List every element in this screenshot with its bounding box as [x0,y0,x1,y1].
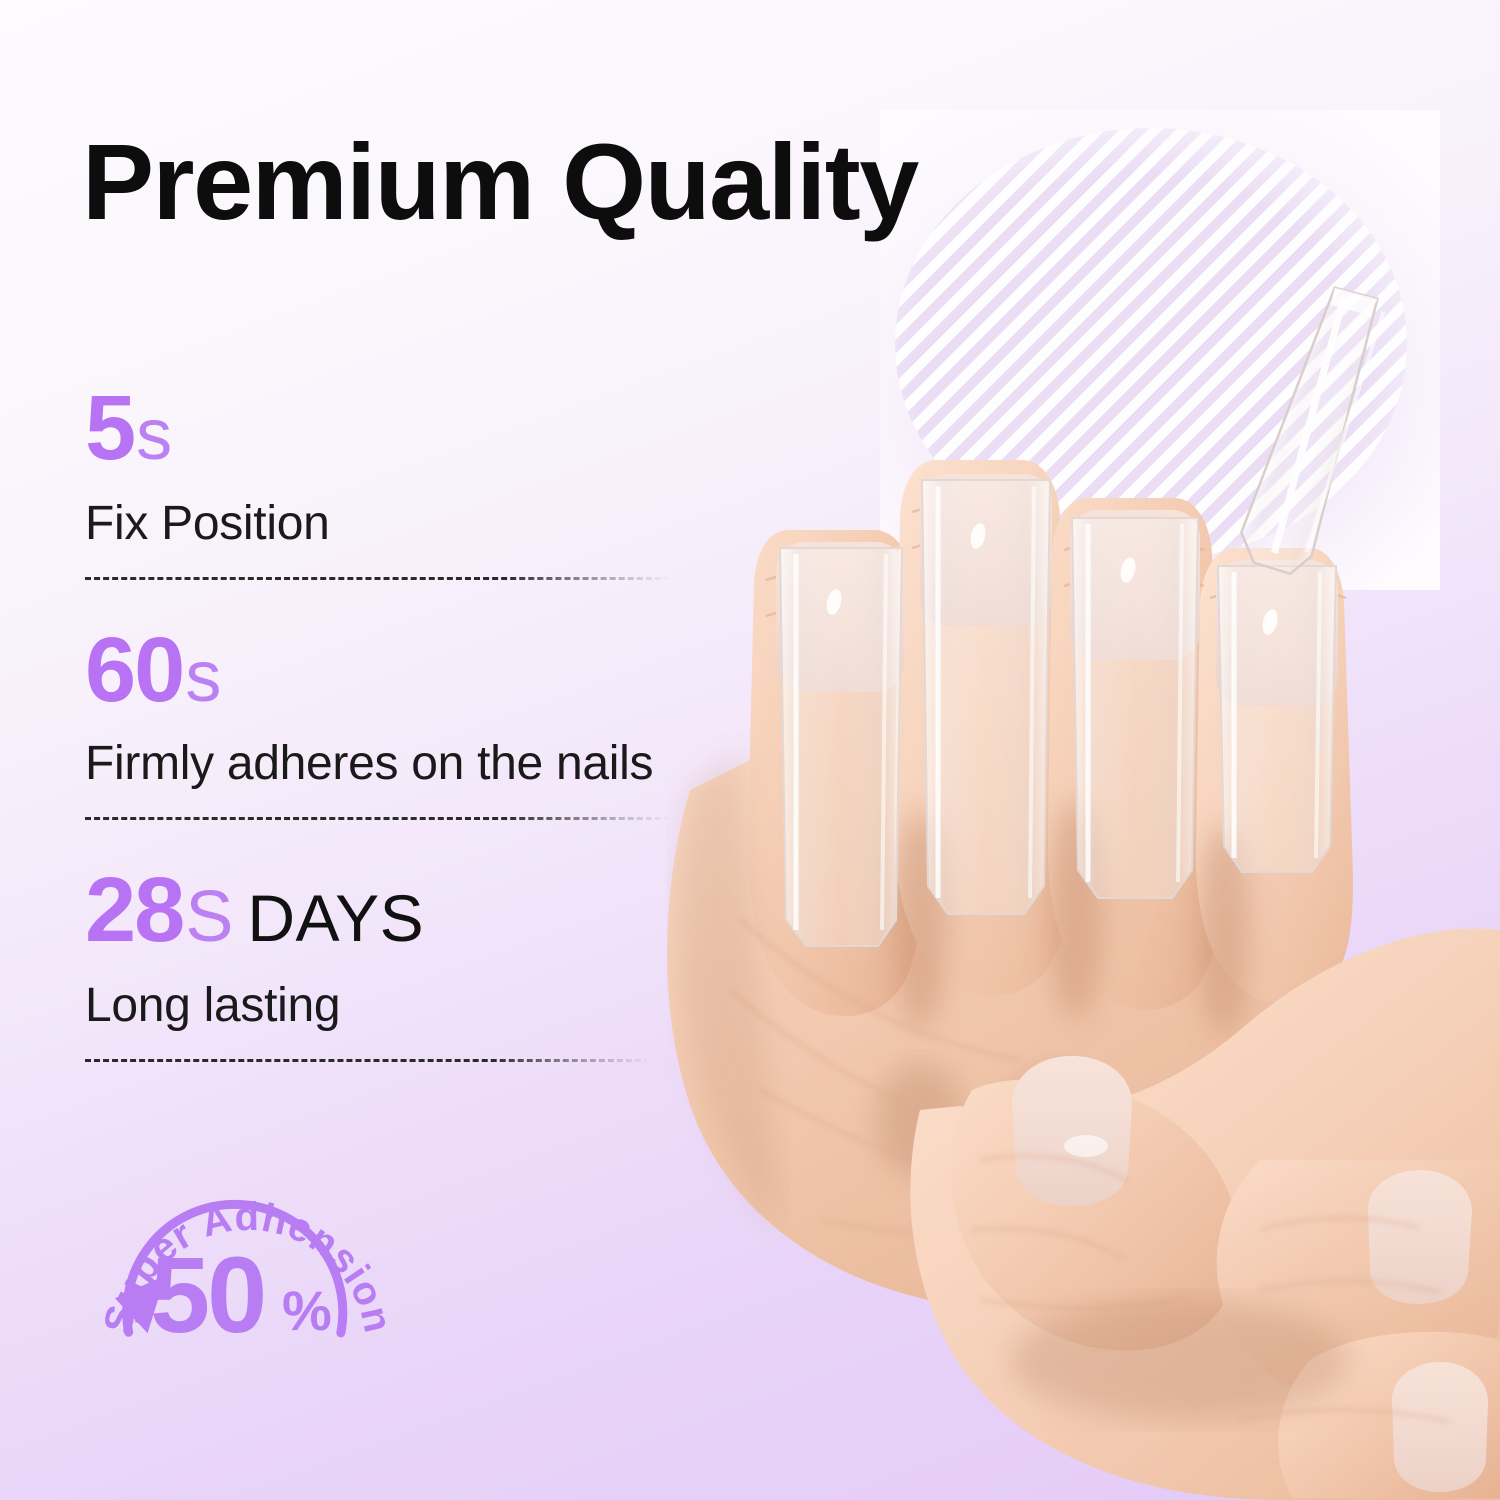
badge-value: 50 [150,1234,264,1355]
feature-divider [85,1059,650,1062]
badge-percent-sign: % [282,1279,332,1342]
feature-metric: 5 s [85,382,685,474]
metric-unit: s [136,399,172,471]
metric-suffix: DAYS [247,885,424,951]
hands-nail-tips-photo [620,230,1500,1500]
feature-divider [85,577,670,580]
feature-label: Fix Position [85,496,685,551]
metric-unit: S [185,881,233,953]
feature-metric: 28 S DAYS [85,864,685,956]
page-title: Premium Quality [82,128,918,236]
super-adhesion-badge: Super Adhension + 50 % [78,1152,408,1402]
feature-item-firmly-adheres: 60 s Firmly adheres on the nails [85,624,685,820]
feature-label: Firmly adheres on the nails [85,736,685,791]
metric-number: 5 [85,382,134,474]
feature-item-long-lasting: 28 S DAYS Long lasting [85,864,685,1062]
metric-number: 60 [85,624,183,716]
feature-metric: 60 s [85,624,685,716]
feature-divider [85,817,670,820]
feature-label: Long lasting [85,978,685,1033]
product-feature-card: Premium Quality 5 s Fix Position 60 s Fi… [0,0,1500,1500]
metric-number: 28 [85,864,183,956]
feature-list: 5 s Fix Position 60 s Firmly adheres on … [85,382,685,1062]
metric-unit: s [185,641,221,713]
feature-item-fix-position: 5 s Fix Position [85,382,685,580]
